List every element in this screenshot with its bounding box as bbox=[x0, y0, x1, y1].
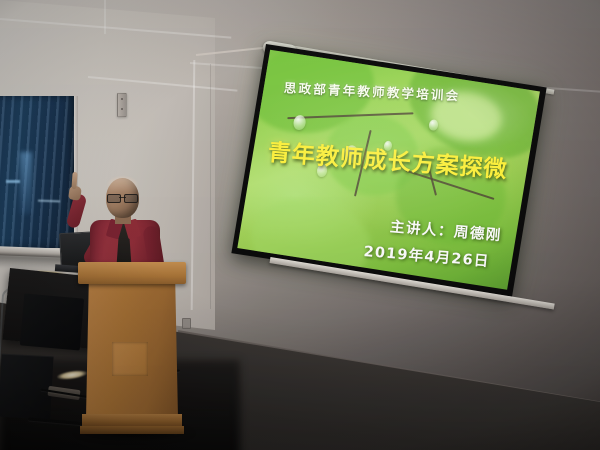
curtain-highlight bbox=[20, 152, 32, 214]
glasses-bridge bbox=[119, 197, 126, 198]
floor-loudspeaker bbox=[0, 354, 54, 420]
wall-seam-vertical bbox=[210, 64, 211, 309]
amplifier-box bbox=[20, 293, 84, 350]
curtain-light-streak bbox=[6, 180, 20, 183]
wall-seam-vertical bbox=[104, 0, 106, 34]
podium bbox=[80, 262, 184, 434]
lecture-photo: 思政部青年教师教学培训会 青年教师成长方案探微 主讲人：周德刚 2019年4月2… bbox=[0, 0, 600, 450]
podium-front-panel bbox=[112, 342, 148, 376]
slide-canvas: 思政部青年教师教学培训会 青年教师成长方案探微 主讲人：周德刚 2019年4月2… bbox=[237, 50, 540, 290]
podium-top-ledge bbox=[78, 262, 186, 284]
head-highlight bbox=[108, 177, 137, 193]
wall-bracket-icon bbox=[117, 93, 127, 117]
slide-date: 2019年4月26日 bbox=[363, 240, 491, 271]
podium-base-molding bbox=[80, 426, 184, 434]
